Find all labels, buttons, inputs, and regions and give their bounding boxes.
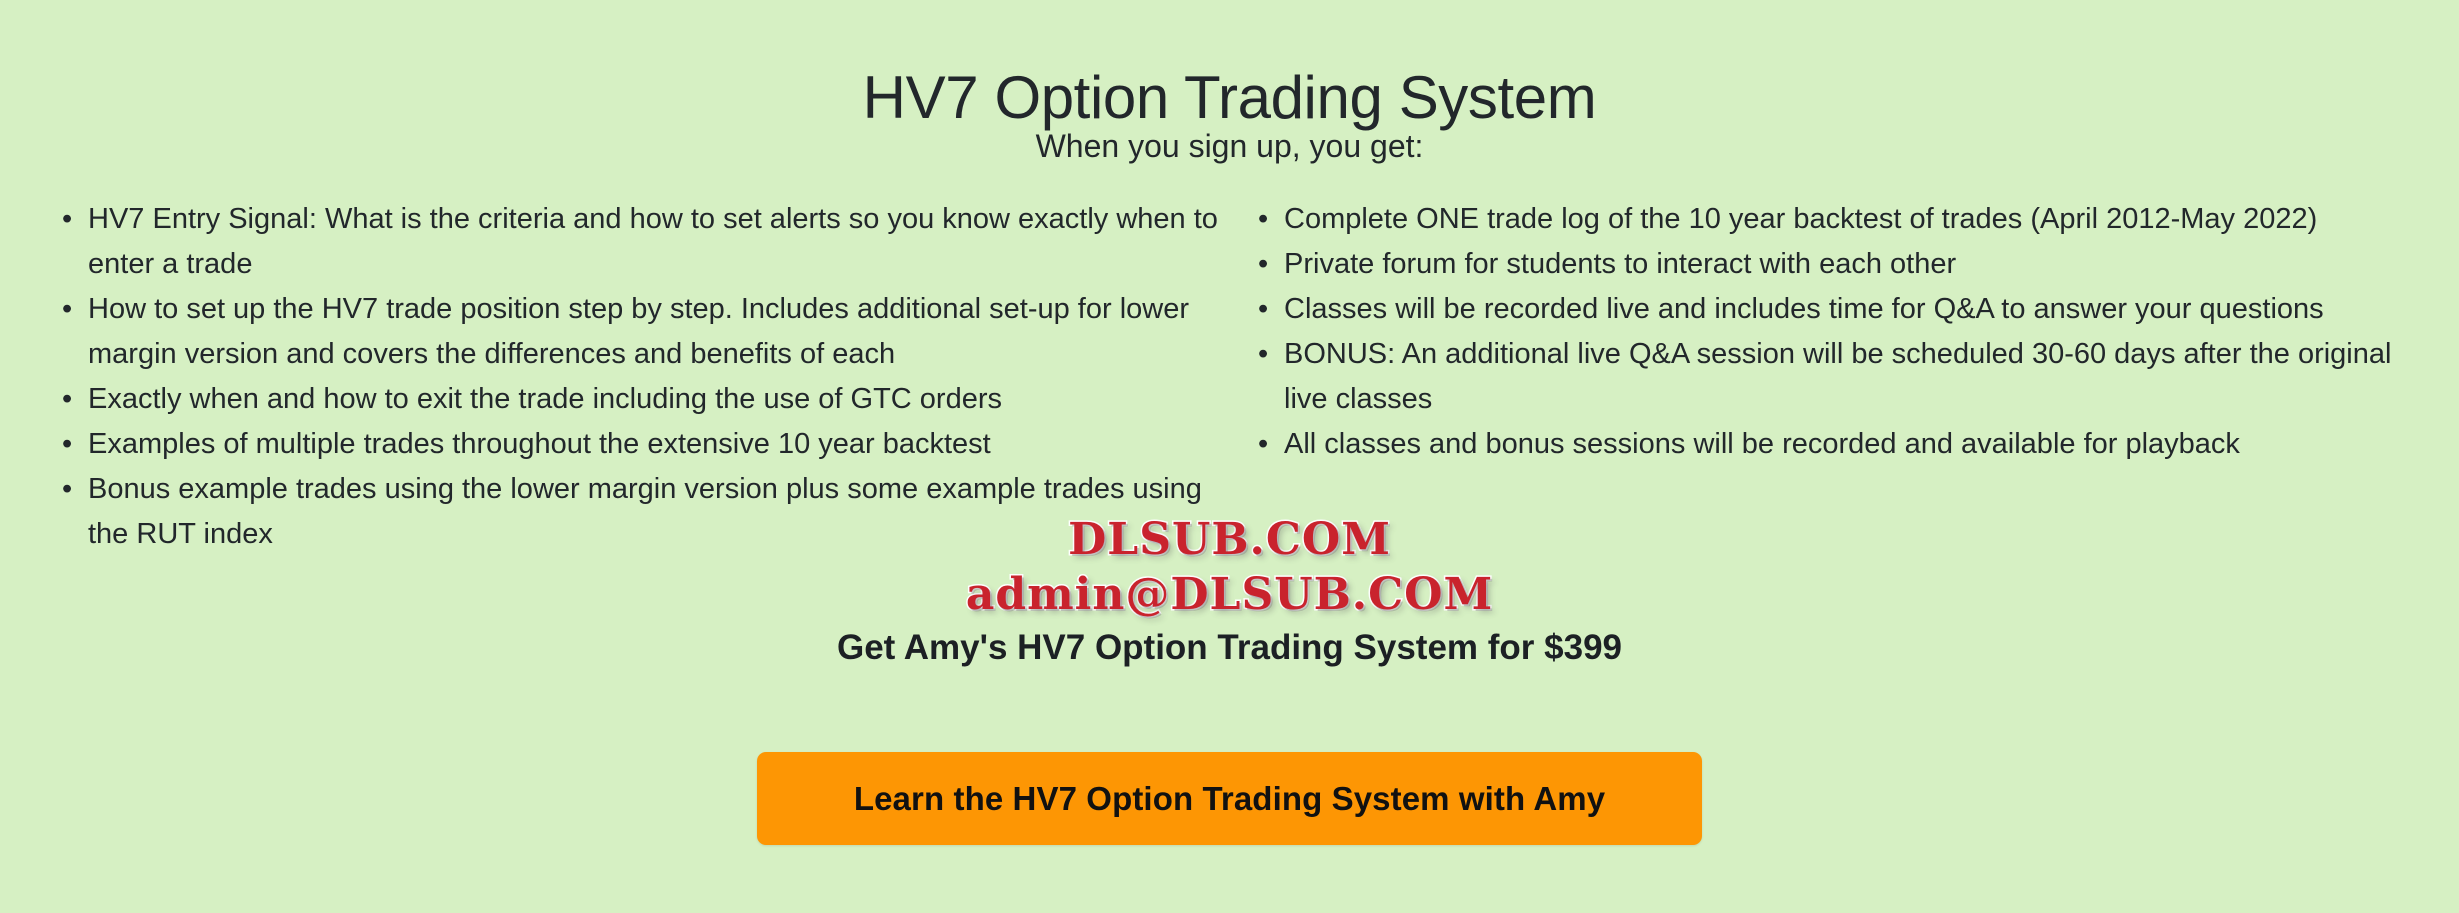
features-left-column: HV7 Entry Signal: What is the criteria a…	[0, 197, 1250, 557]
learn-hv7-cta-button[interactable]: Learn the HV7 Option Trading System with…	[757, 752, 1702, 845]
list-item: Examples of multiple trades throughout t…	[48, 422, 1240, 467]
watermark-email-text: admin@DLSUB.COM	[966, 570, 1493, 620]
list-item: HV7 Entry Signal: What is the criteria a…	[48, 197, 1240, 287]
list-item: How to set up the HV7 trade position ste…	[48, 287, 1240, 377]
page-title: HV7 Option Trading System	[0, 64, 2459, 131]
feature-list-left: HV7 Entry Signal: What is the criteria a…	[48, 197, 1240, 557]
list-item: Private forum for students to interact w…	[1250, 242, 2439, 287]
list-item: Complete ONE trade log of the 10 year ba…	[1250, 197, 2439, 242]
list-item: BONUS: An additional live Q&A session wi…	[1250, 332, 2439, 422]
watermark-email: admin@DLSUB.COM	[0, 570, 2459, 620]
features-right-column: Complete ONE trade log of the 10 year ba…	[1250, 197, 2459, 467]
cta-container: Learn the HV7 Option Trading System with…	[0, 752, 2459, 845]
offer-headline: Get Amy's HV7 Option Trading System for …	[0, 625, 2459, 671]
features-section: HV7 Entry Signal: What is the criteria a…	[0, 197, 2459, 557]
watermark-site-text: DLSUB.COM	[1068, 515, 1391, 565]
watermark-site: DLSUB.COM	[0, 515, 2459, 565]
list-item: All classes and bonus sessions will be r…	[1250, 422, 2439, 467]
page-subtitle: When you sign up, you get:	[0, 126, 2459, 168]
list-item: Exactly when and how to exit the trade i…	[48, 377, 1240, 422]
feature-list-right: Complete ONE trade log of the 10 year ba…	[1250, 197, 2439, 467]
list-item: Classes will be recorded live and includ…	[1250, 287, 2439, 332]
landing-page: HV7 Option Trading System When you sign …	[0, 0, 2459, 913]
